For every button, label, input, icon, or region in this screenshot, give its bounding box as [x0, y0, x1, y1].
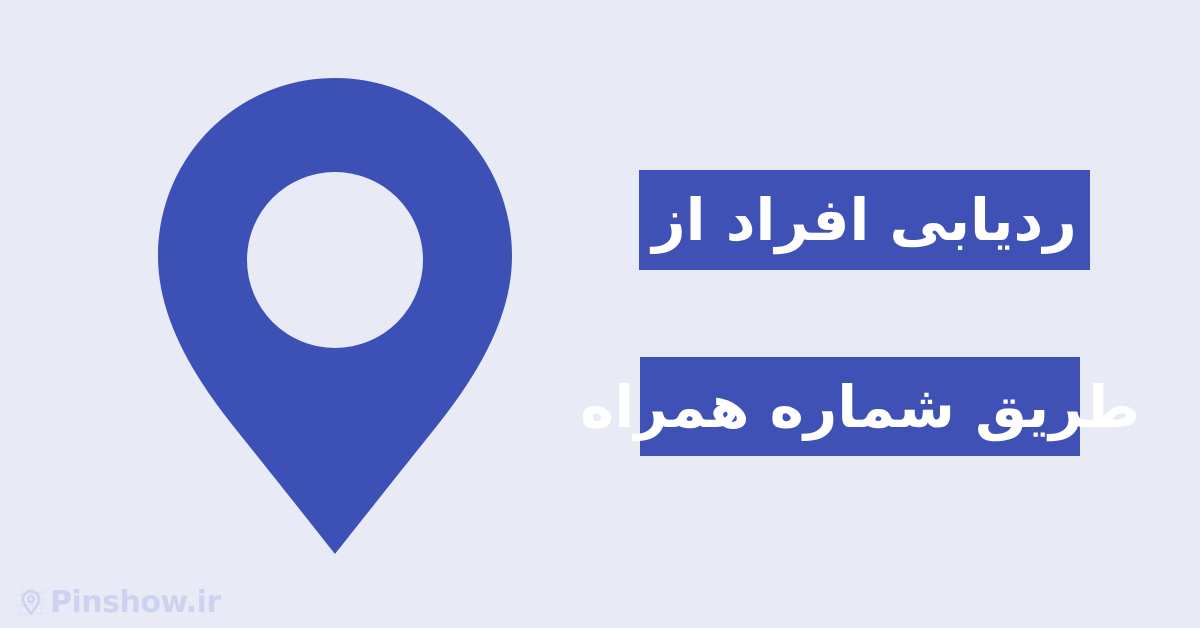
- headline-text-line-1: ردیابی افراد از: [652, 191, 1076, 249]
- watermark: Pinshow.ir: [14, 586, 221, 620]
- watermark-label: Pinshow.ir: [50, 588, 221, 618]
- map-pin-icon: [152, 72, 518, 560]
- headline-banner-line-1: ردیابی افراد از: [639, 170, 1090, 270]
- map-pin-icon: [14, 586, 48, 620]
- headline-text-line-2: طریق شماره همراه: [580, 378, 1140, 436]
- banner-canvas: ردیابی افراد از طریق شماره همراه: [0, 0, 1200, 628]
- headline-banner-line-2: طریق شماره همراه: [640, 357, 1080, 456]
